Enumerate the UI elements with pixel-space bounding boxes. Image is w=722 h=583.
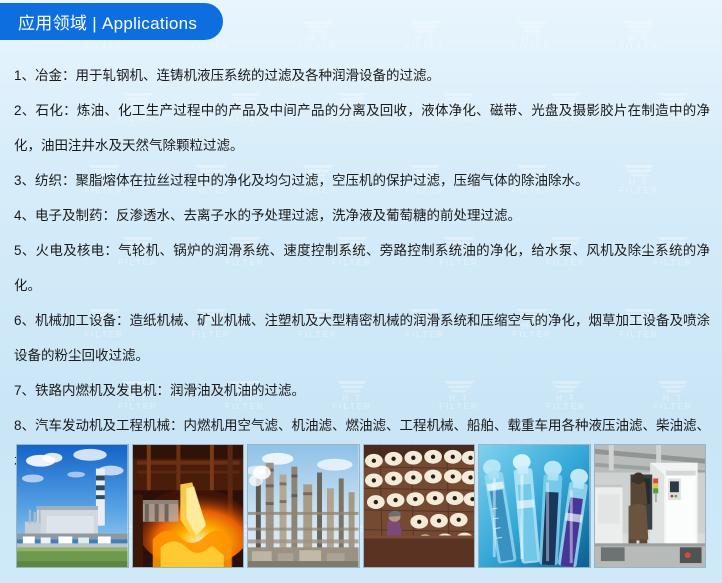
application-item: 6、机械加工设备：造纸机械、矿业机械、注塑机及大型精密机械的润滑系统和压缩空气的… xyxy=(14,303,710,373)
textile-spools-photo xyxy=(363,444,476,568)
applications-list: 1、冶金：用于轧钢机、连铸机液压系统的过滤及各种润滑设备的过滤。 2、石化：炼油… xyxy=(14,58,710,478)
watermark-line1: H T xyxy=(272,34,364,43)
watermark-line2: FILTER xyxy=(272,43,364,51)
application-item: 5、火电及核电：气轮机、锅炉的润滑系统、速度控制系统、旁路控制系统油的净化，给水… xyxy=(14,233,710,303)
application-photo-gallery xyxy=(16,444,706,568)
power-plant-photo xyxy=(16,444,129,568)
application-item: 2、石化：炼油、化工生产过程中的产品及中间产品的分离及回收，液体净化、磁带、光盘… xyxy=(14,93,710,163)
cnc-machine-photo xyxy=(594,444,707,568)
steel-furnace-photo xyxy=(132,444,245,568)
ht-filter-logo-icon xyxy=(513,18,551,34)
section-heading-badge: 应用领域 | Applications xyxy=(0,3,223,40)
ht-filter-logo-icon xyxy=(620,18,658,34)
watermark-line1: H T xyxy=(700,34,722,43)
application-item: 1、冶金：用于轧钢机、连铸机液压系统的过滤及各种润滑设备的过滤。 xyxy=(14,58,710,93)
application-item: 4、电子及制药：反渗透水、去离子水的予处理过滤，洗净液及葡萄糖的前处理过滤。 xyxy=(14,198,710,233)
applications-page: H TFILTERH TFILTERH TFILTERH TFILTERH TF… xyxy=(0,0,722,583)
watermark-line2: FILTER xyxy=(700,43,722,51)
ht-filter-logo-icon xyxy=(406,18,444,34)
ht-filter-logo-icon xyxy=(299,18,337,34)
watermark-line1: H T xyxy=(593,34,685,43)
section-heading-label: 应用领域 | Applications xyxy=(18,9,197,34)
watermark-line2: FILTER xyxy=(165,43,257,51)
watermark-line2: FILTER xyxy=(486,43,578,51)
refinery-photo xyxy=(247,444,360,568)
watermark-line2: FILTER xyxy=(593,43,685,51)
watermark-line2: FILTER xyxy=(379,43,471,51)
laboratory-glassware-photo xyxy=(478,444,591,568)
application-item: 7、铁路内燃机及发电机：润滑油及机油的过滤。 xyxy=(14,373,710,408)
watermark-line2: FILTER xyxy=(58,43,150,51)
watermark-line1: H T xyxy=(486,34,578,43)
application-item: 3、纺织：聚脂熔体在拉丝过程中的净化及均匀过滤，空压机的保护过滤，压缩气体的除油… xyxy=(14,163,710,198)
watermark-line1: H T xyxy=(379,34,471,43)
